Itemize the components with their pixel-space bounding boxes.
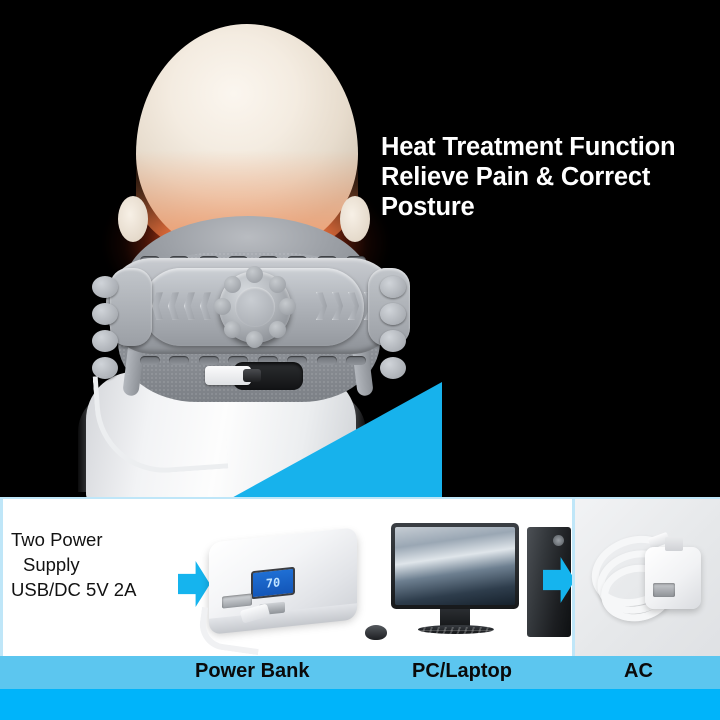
supply-caption-line-3: USB/DC 5V 2A <box>11 577 171 602</box>
headline-line-2: Relieve Pain & Correct <box>381 162 711 192</box>
headline-line-3: Posture <box>381 192 711 222</box>
supply-caption-line-1: Two Power <box>11 527 171 552</box>
ear-right <box>340 196 370 242</box>
mouse <box>365 625 387 640</box>
arrow-right-icon-1 <box>178 561 210 607</box>
hero-panel: Heat Treatment Function Relieve Pain & C… <box>0 0 720 497</box>
product-infographic: Heat Treatment Function Relieve Pain & C… <box>0 0 720 720</box>
monitor <box>391 523 519 609</box>
adjustment-knob[interactable] <box>219 271 291 343</box>
supply-caption-line-2: Supply <box>11 552 171 577</box>
adjust-pegs-left[interactable] <box>92 276 122 384</box>
ac-adapter-usb-port <box>653 583 675 597</box>
power-supply-panel: Two Power Supply USB/DC 5V 2A 70 <box>0 497 720 656</box>
ac-adapter-prongs <box>665 537 683 551</box>
headline: Heat Treatment Function Relieve Pain & C… <box>381 132 711 222</box>
ear-left <box>118 196 148 242</box>
chevron-right-icon <box>316 292 375 320</box>
power-plug-tip <box>243 369 261 382</box>
label-power-bank: Power Bank <box>195 660 309 683</box>
monitor-screen <box>395 527 515 605</box>
ac-adapter-brick <box>645 547 701 609</box>
headline-line-1: Heat Treatment Function <box>381 132 711 162</box>
power-bank-lcd: 70 <box>251 567 295 600</box>
footer-bar <box>0 689 720 720</box>
label-ac: AC <box>624 660 653 683</box>
supply-caption: Two Power Supply USB/DC 5V 2A <box>11 527 171 602</box>
keyboard <box>381 627 525 649</box>
label-bar: Power Bank PC/Laptop AC <box>0 656 720 689</box>
chevron-left-icon <box>152 292 211 320</box>
pc-power-button-icon[interactable] <box>553 535 564 546</box>
power-bank-lcd-value: 70 <box>266 575 280 591</box>
adjust-pegs-right[interactable] <box>380 276 410 384</box>
label-pc-laptop: PC/Laptop <box>412 660 512 683</box>
